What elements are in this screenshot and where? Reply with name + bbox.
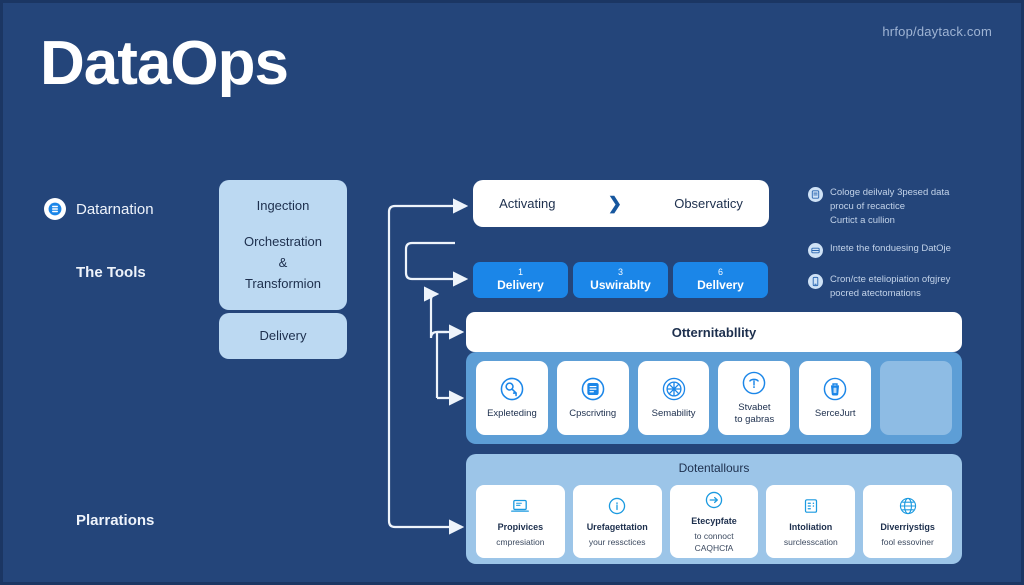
sidebar-item-label: Plarrations [76,512,154,529]
mid-card-label-line1: Stvabet [735,402,775,414]
observability-bar-title: Otternitabllity [672,325,757,340]
bottom-card-urefagettation[interactable]: Urefagettation your ressctices [573,485,662,558]
info-circle-icon [606,495,628,517]
mid-card-cpscrivting[interactable]: Cpscrivting [557,361,629,435]
pill-label-observaticy: Observaticy [674,196,743,211]
mid-card-placeholder[interactable] [880,361,952,435]
stage-pill-activating-observaticy[interactable]: Activating ❯ Observaticy [473,180,769,227]
watermark-url: hrfop/daytack.com [882,24,992,39]
right-notes-list: Cologe deilvaly 3pesed data procu of rec… [808,186,998,316]
numbered-button-label: Delivery [497,278,544,293]
sidebar-item-the-tools[interactable]: The Tools [76,264,146,281]
right-note-text: Intete the fonduesing DatOje [830,242,951,258]
mid-card-semability[interactable]: Semability [638,361,710,435]
right-note-line1: Cron/cte eteliopiation ofgjrey [830,273,950,287]
badge-info-icon [808,187,823,202]
numbered-button-label: Dellvery [697,278,744,293]
page-title: DataOps [40,28,288,99]
right-note-line1: Cologe deilvaly 3pesed data [830,186,949,200]
drawer-icon [808,243,823,258]
network-globe-icon [661,376,687,402]
document-list-icon [800,495,822,517]
bottom-card-sub: your ressctices [589,537,646,548]
mid-card-list: Expleteding Cpscrivting Semability [476,361,952,435]
mid-card-stvabet[interactable]: Stvabet to gabras [718,361,790,435]
bottom-card-heading: Intoliation [789,521,832,533]
sidebar-item-datarnation[interactable]: Datarnation [44,198,154,220]
right-note-text: Cologe deilvaly 3pesed data procu of rec… [830,186,949,227]
mid-card-label: Stvabet to gabras [735,402,775,427]
sidebar-item-label: Datarnation [76,201,154,218]
mid-card-expleteding[interactable]: Expleteding [476,361,548,435]
stage-label-delivery: Delivery [260,325,307,346]
bottom-card-etecypfate[interactable]: Etecypfate to connoct CAQHCfA [670,485,759,558]
right-note-2[interactable]: Intete the fonduesing DatOje [808,242,998,258]
pill-label-activating: Activating [499,196,555,211]
numbered-button-number: 1 [518,267,523,278]
server-box-icon [580,376,606,402]
mid-card-label-line2: to gabras [735,414,775,426]
chevron-right-icon: ❯ [608,194,622,214]
bottom-card-diverriystigs[interactable]: Diverriystigs fool essoviner [863,485,952,558]
numbered-button-3[interactable]: 6 Dellvery [673,262,768,298]
bottom-card-heading: Etecypfate [691,515,737,527]
laptop-icon [509,495,531,517]
bottom-card-list: Propivices cmpresiation Urefagettation y… [476,485,952,558]
bottom-card-sub: to connoct CAQHCfA [694,531,733,554]
stage-sub-amp: & [244,252,322,273]
stage-sub-transformion: Transformion [244,273,322,294]
numbered-button-1[interactable]: 1 Delivery [473,262,568,298]
sidebar-item-plarrations[interactable]: Plarrations [76,512,154,529]
right-note-text: Cron/cte eteliopiation ofgjrey pocred at… [830,273,950,301]
alert-circle-icon [741,370,767,396]
numbered-button-number: 6 [718,267,723,278]
right-note-line2: pocred atectomations [830,287,950,301]
right-note-line3: Curtict a cullion [830,214,949,228]
bottom-card-heading: Propivices [498,521,544,533]
trash-bin-icon [822,376,848,402]
stage-label-ingestion: Ingection [257,195,310,216]
numbered-button-label: Uswirablty [590,278,651,293]
globe-data-icon [897,495,919,517]
mid-card-label: Semability [652,408,696,420]
bottom-card-sub: fool essoviner [881,537,933,548]
bottom-band-title: Dotentallours [466,461,962,475]
stage-box-ingestion[interactable]: Ingection Orchestration & Transformion [219,180,347,310]
stage-sub-orchestration: Orchestration [244,231,322,252]
bottom-card-sub: cmpresiation [496,537,544,548]
diagram-canvas: DataOps hrfop/daytack.com Datarnation Th… [0,0,1024,585]
stage-box-delivery[interactable]: Delivery [219,313,347,359]
observability-bar[interactable]: Otternitabllity [466,312,962,352]
right-note-3[interactable]: Cron/cte eteliopiation ofgjrey pocred at… [808,273,998,301]
stage-label-orchestration: Orchestration & Transformion [244,231,322,295]
bottom-card-propivices[interactable]: Propivices cmpresiation [476,485,565,558]
bottom-card-intoliation[interactable]: Intoliation surclesscation [766,485,855,558]
bottom-card-sub: surclesscation [784,537,838,548]
right-note-line1: Intete the fonduesing DatOje [830,242,951,256]
mid-card-sercejurt[interactable]: SerceJurt [799,361,871,435]
bottom-card-heading: Diverriystigs [880,521,935,533]
phone-icon [808,274,823,289]
right-note-line2: procu of recactice [830,200,949,214]
right-note-1[interactable]: Cologe deilvaly 3pesed data procu of rec… [808,186,998,227]
arrow-right-circle-icon [703,489,725,511]
numbered-button-2[interactable]: 3 Uswirablty [573,262,668,298]
bottom-card-sub-line2: CAQHCfA [694,543,733,554]
mid-card-label: SerceJurt [815,408,856,420]
database-icon [44,198,66,220]
mid-card-label: Expleteding [487,408,537,420]
numbered-button-number: 3 [618,267,623,278]
bottom-card-heading: Urefagettation [587,521,648,533]
search-share-icon [499,376,525,402]
mid-card-label: Cpscrivting [569,408,616,420]
sidebar-item-label: The Tools [76,264,146,281]
bottom-card-sub-line1: to connoct [694,531,733,542]
